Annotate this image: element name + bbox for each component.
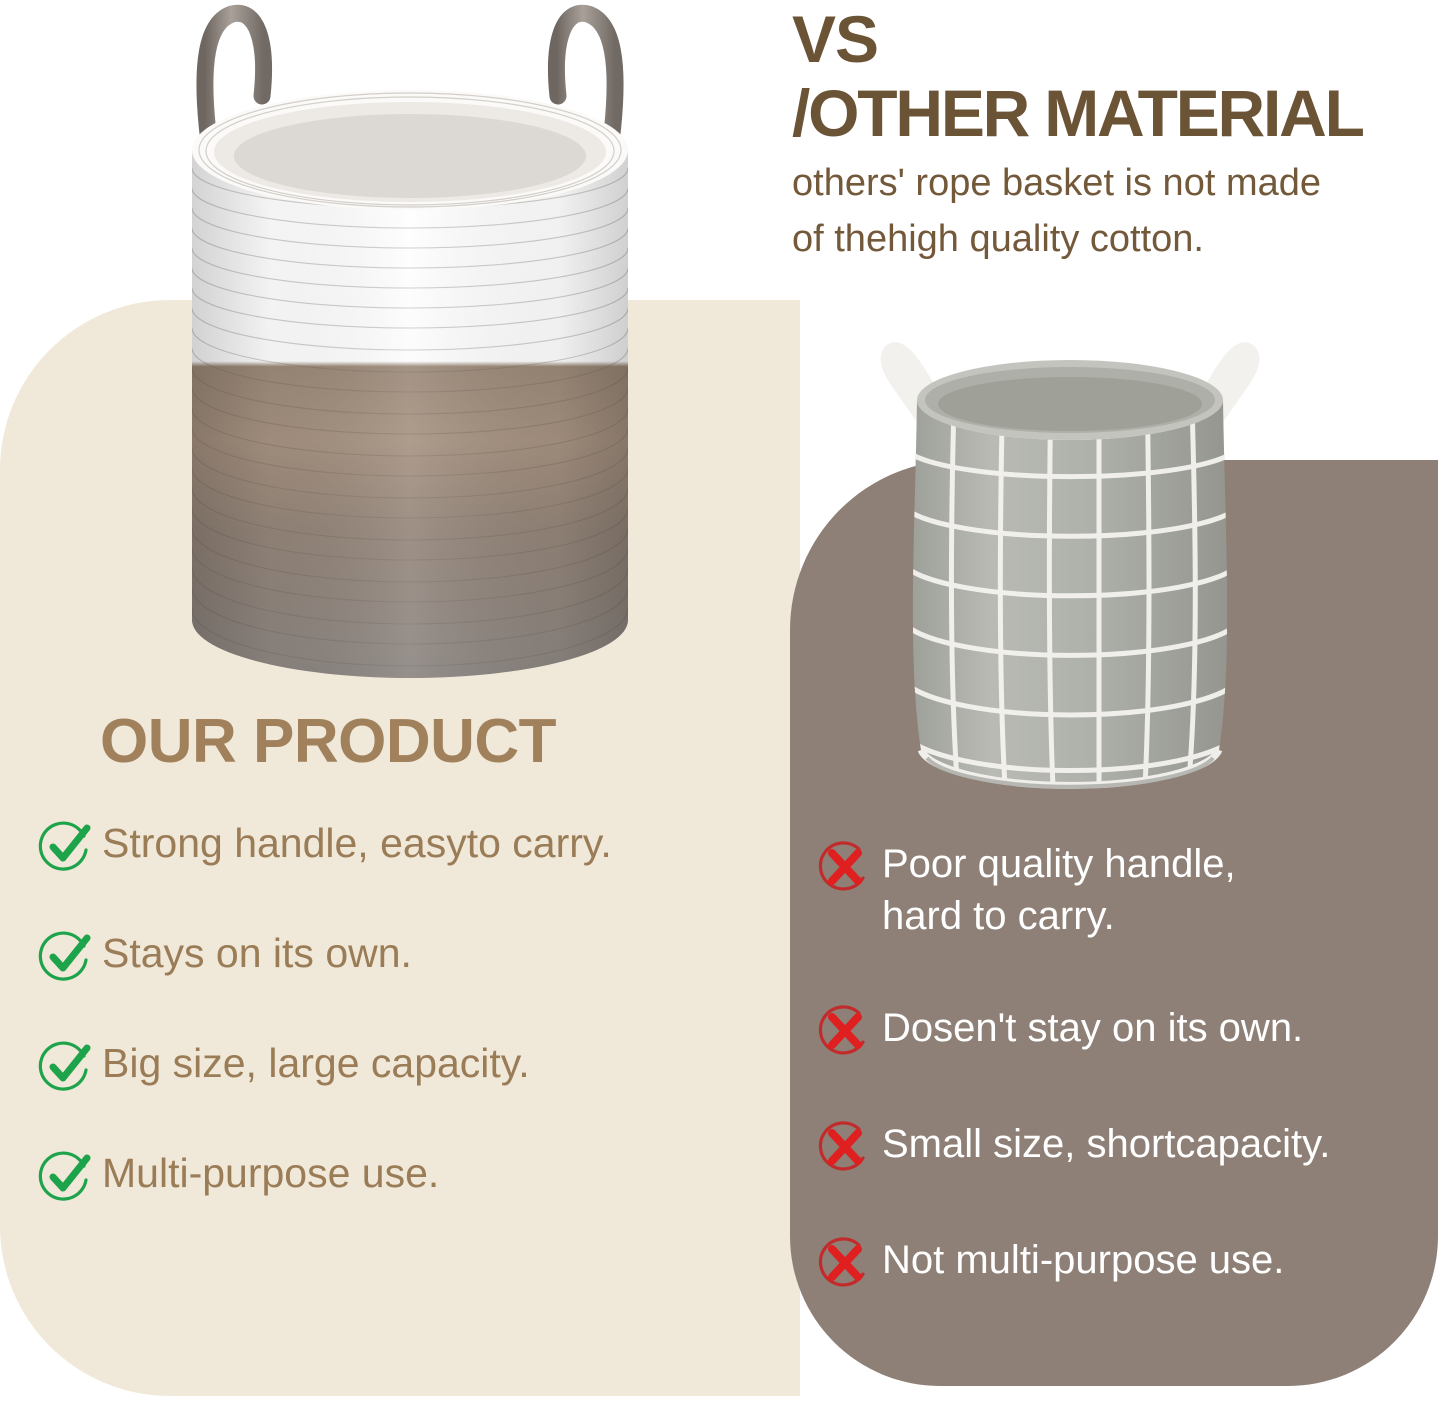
header-subtitle-line-2: of thehigh quality cotton. bbox=[792, 211, 1438, 267]
pros-list: Strong handle, easyto carry. Stays on it… bbox=[38, 818, 778, 1258]
list-item: Dosen't stay on its own. bbox=[818, 1002, 1418, 1058]
other-material-title: /OTHER MATERIAL bbox=[792, 72, 1438, 155]
list-item: Big size, large capacity. bbox=[38, 1038, 778, 1094]
list-item-label: Strong handle, easyto carry. bbox=[102, 818, 612, 868]
list-item: Stays on its own. bbox=[38, 928, 778, 984]
our-basket-image bbox=[150, 0, 670, 720]
list-item-label: Poor quality handle, hard to carry. bbox=[882, 838, 1236, 942]
vs-label: VS bbox=[792, 6, 1438, 72]
header-subtitle-line-1: others' rope basket is not made bbox=[792, 155, 1438, 211]
x-circle-icon bbox=[818, 1004, 872, 1058]
list-item: Not multi-purpose use. bbox=[818, 1234, 1418, 1290]
list-item: Poor quality handle, hard to carry. bbox=[818, 838, 1418, 942]
list-item-label: Small size, shortcapacity. bbox=[882, 1118, 1330, 1170]
infographic-page: VS /OTHER MATERIAL others' rope basket i… bbox=[0, 0, 1438, 1413]
x-circle-icon bbox=[818, 840, 872, 894]
list-item: Multi-purpose use. bbox=[38, 1148, 778, 1204]
cons-list: Poor quality handle, hard to carry. Dose… bbox=[818, 838, 1418, 1350]
check-circle-icon bbox=[38, 1040, 92, 1094]
list-item-label: Multi-purpose use. bbox=[102, 1148, 439, 1198]
header-block: VS /OTHER MATERIAL others' rope basket i… bbox=[792, 6, 1438, 267]
x-circle-icon bbox=[818, 1236, 872, 1290]
our-product-title: OUR PRODUCT bbox=[100, 706, 556, 777]
x-circle-icon bbox=[818, 1120, 872, 1174]
list-item-label: Not multi-purpose use. bbox=[882, 1234, 1284, 1286]
list-item-label: Big size, large capacity. bbox=[102, 1038, 530, 1088]
other-basket-image bbox=[855, 330, 1285, 820]
list-item: Small size, shortcapacity. bbox=[818, 1118, 1418, 1174]
list-item-label: Dosen't stay on its own. bbox=[882, 1002, 1303, 1054]
list-item-label: Stays on its own. bbox=[102, 928, 412, 978]
check-circle-icon bbox=[38, 820, 92, 874]
check-circle-icon bbox=[38, 1150, 92, 1204]
list-item: Strong handle, easyto carry. bbox=[38, 818, 778, 874]
check-circle-icon bbox=[38, 930, 92, 984]
